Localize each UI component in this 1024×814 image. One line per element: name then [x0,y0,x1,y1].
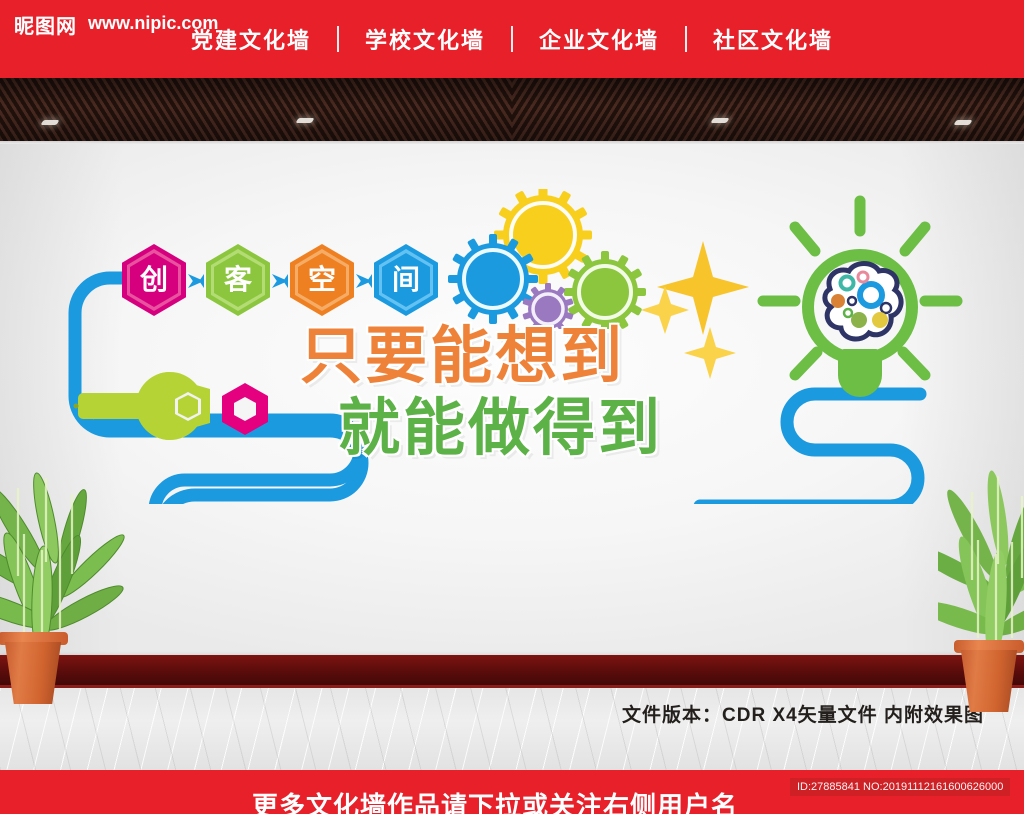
hexagon-label-kong: 空 [308,266,336,294]
nav-item-community-culture-wall[interactable]: 社区文化墙 [687,23,859,55]
hexagon-label-ke: 客 [224,266,252,294]
id-badge: ID:27885841 NO:20191112161600626000 [790,778,1010,796]
ceiling-shading [0,78,1024,141]
potted-plant-right [938,468,1024,703]
nav-separator [337,26,339,52]
potted-plant-left [0,470,128,700]
lightbulb-idea-icon [755,189,965,419]
nav-separator [685,26,687,52]
wrench-icon [74,372,211,440]
baseboard [0,655,1024,688]
top-navigation-bar: 党建文化墙 学校文化墙 企业文化墙 社区文化墙 [0,0,1024,78]
ceiling [0,78,1024,141]
nipic-logo[interactable]: 昵图网 [14,10,77,39]
bulb-base [838,354,882,397]
nav-separator [511,26,513,52]
nav-item-enterprise-culture-wall[interactable]: 企业文化墙 [513,23,685,55]
wrench-and-nut-icon [70,359,320,479]
hexagon-label-jian: 间 [392,266,420,294]
wall-artwork: 创 客 空 间 [0,144,1024,504]
sparkle-icon [684,327,736,379]
gear-green-icon [564,251,646,329]
file-version-note: 文件版本：CDR X4矢量文件 内附效果图 [622,700,984,727]
nav-item-school-culture-wall[interactable]: 学校文化墙 [339,23,511,55]
nipic-url-link[interactable]: www.nipic.com [88,13,218,34]
hexagon-label-chuang: 创 [140,266,168,294]
sparkle-icon [657,241,749,335]
slogan-line-2: 就能做得到 [338,398,663,460]
bottom-bar-message: 更多文化墙作品请下拉或关注右侧用户名 [252,786,738,814]
slogan-line-1: 只要能想到 [300,326,625,388]
hex-nut-icon [222,383,268,435]
